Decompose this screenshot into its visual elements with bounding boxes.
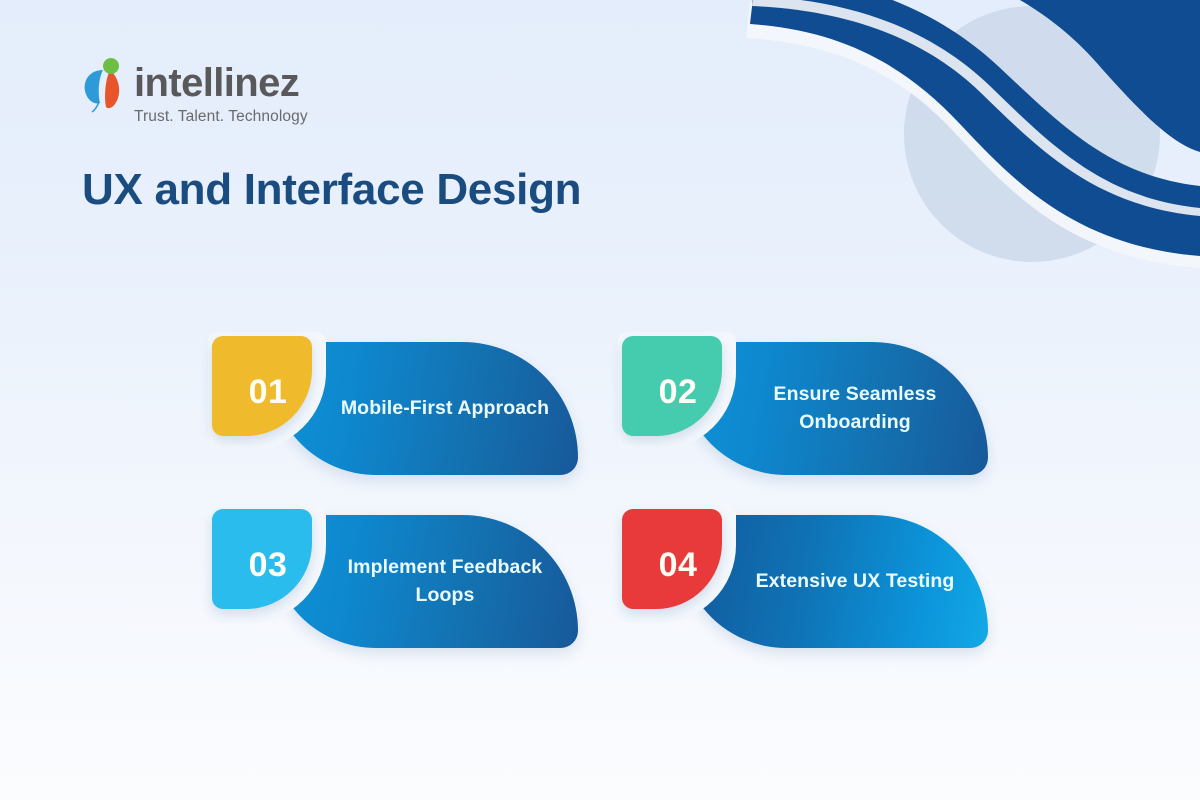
brand-tagline: Trust. Talent. Technology bbox=[134, 109, 308, 125]
card-label: Extensive UX Testing bbox=[700, 568, 969, 596]
decor-ribbon-light bbox=[746, 2, 1200, 268]
page-title: UX and Interface Design bbox=[82, 166, 581, 214]
card-number: 04 bbox=[659, 546, 698, 585]
card-item[interactable]: Mobile-First Approach 01 bbox=[208, 332, 588, 477]
decor-circle bbox=[904, 6, 1160, 262]
card-number: 02 bbox=[659, 373, 698, 412]
card-number: 01 bbox=[249, 373, 288, 412]
brand-logo[interactable]: intellinez Trust. Talent. Technology bbox=[82, 58, 308, 125]
card-item[interactable]: Implement Feedback Loops 03 bbox=[208, 505, 588, 650]
intellinez-leaf-logo-icon bbox=[82, 58, 128, 116]
decor-ribbon-navy-top bbox=[900, 0, 1200, 152]
infographic-canvas: intellinez Trust. Talent. Technology UX … bbox=[0, 0, 1200, 800]
decor-ribbon-highlight bbox=[752, 0, 1200, 216]
card-item[interactable]: Ensure Seamless Onboarding 02 bbox=[618, 332, 998, 477]
decorative-wave-graphic bbox=[730, 0, 1200, 280]
brand-wordmark: intellinez bbox=[134, 63, 308, 103]
card-label: Mobile-First Approach bbox=[285, 395, 563, 423]
card-number: 03 bbox=[249, 546, 288, 585]
card-item[interactable]: Extensive UX Testing 04 bbox=[618, 505, 998, 650]
cards-grid: Mobile-First Approach 01 Ensure Seamless… bbox=[208, 332, 998, 650]
decor-ribbon-navy bbox=[750, 0, 1200, 256]
